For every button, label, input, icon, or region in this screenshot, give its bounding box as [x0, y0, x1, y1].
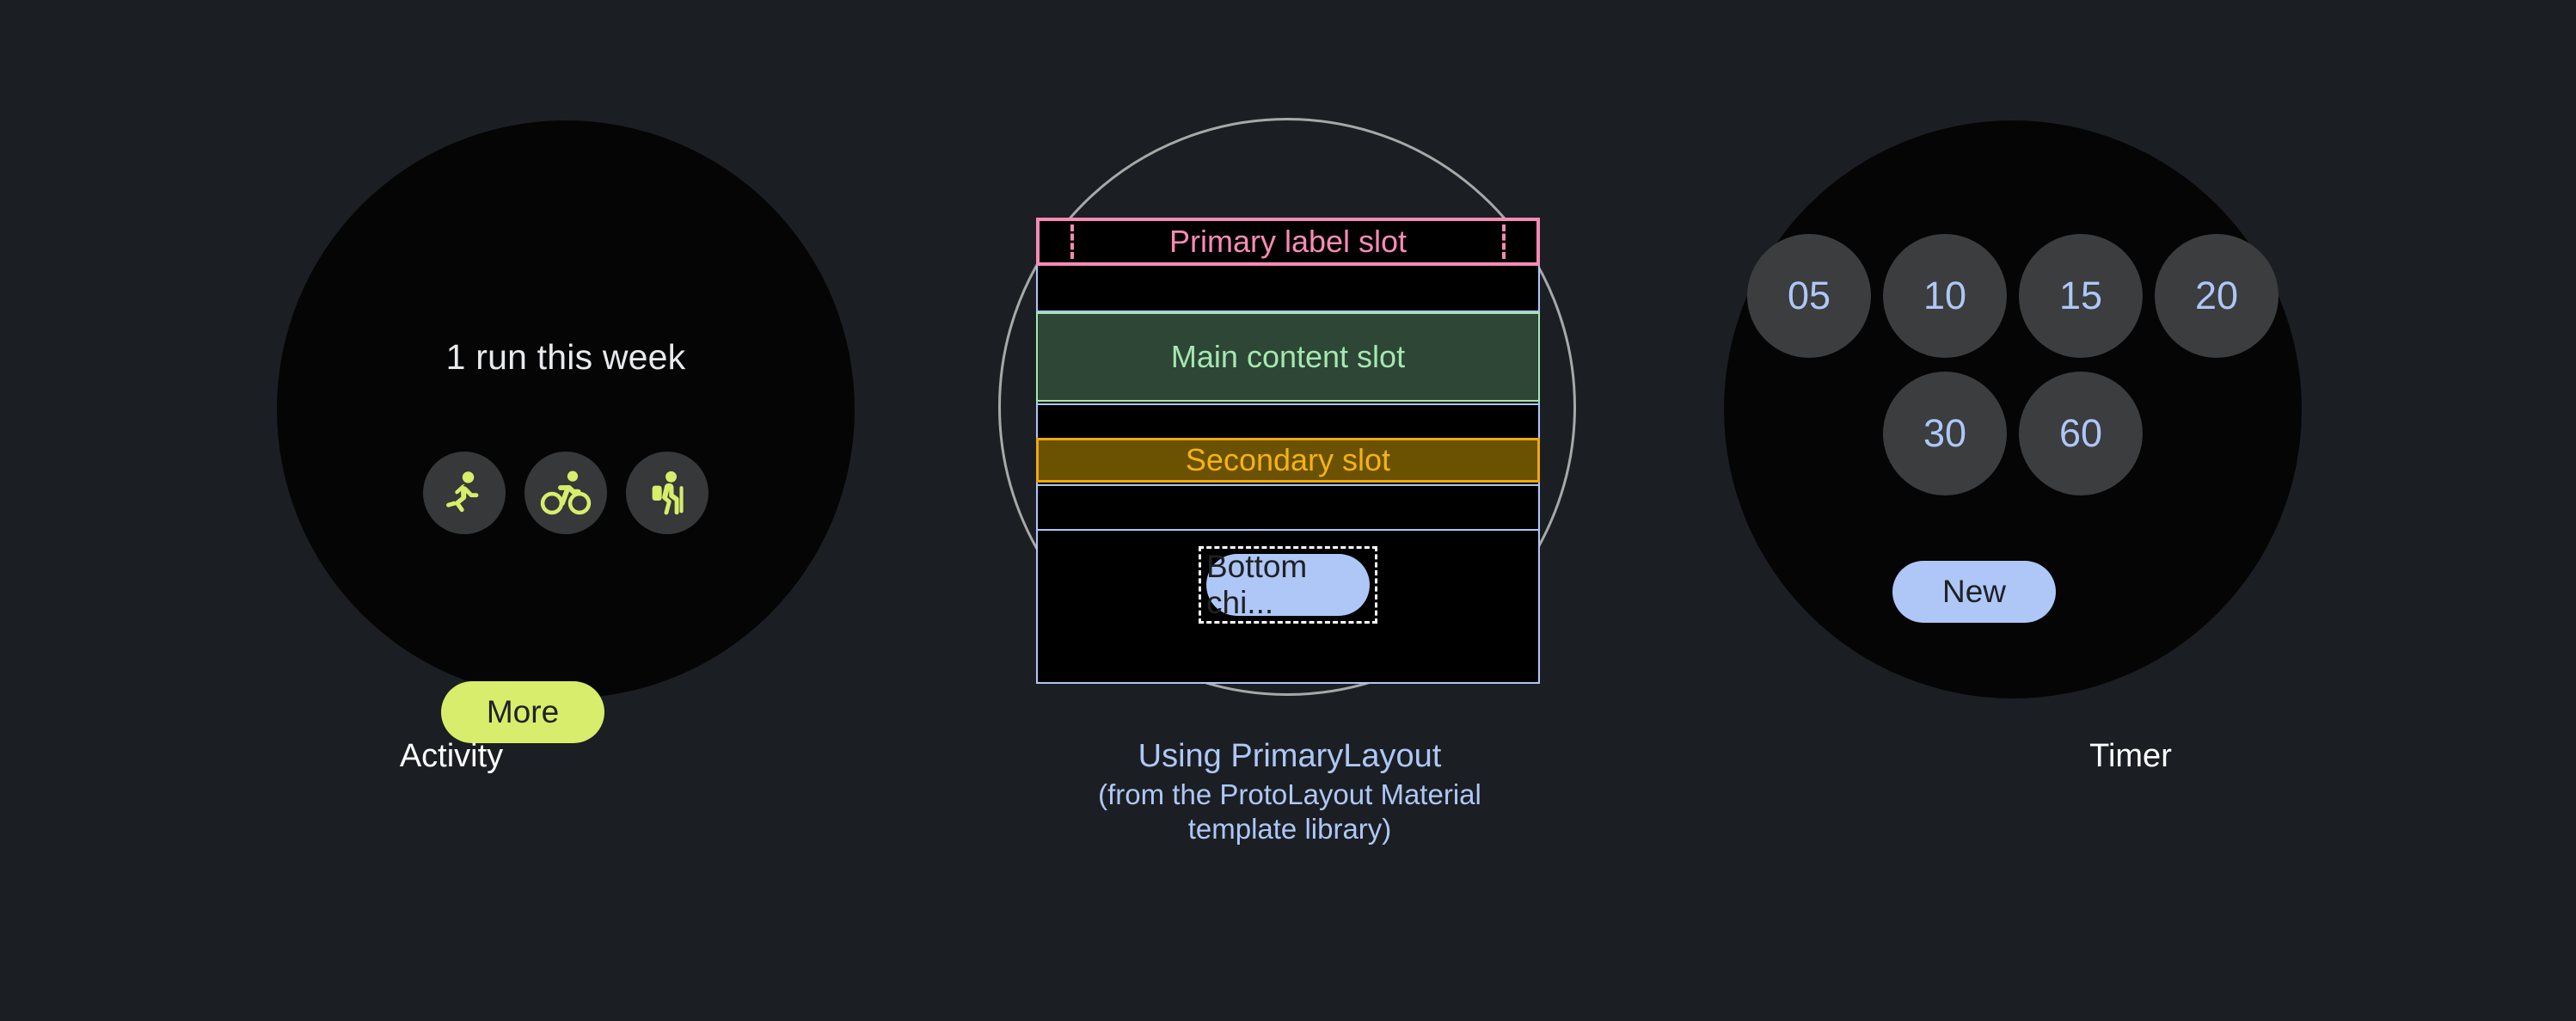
primary-layout-caption-line3: template library) [860, 812, 1720, 846]
timer-duration-button[interactable]: 10 [1883, 234, 2007, 358]
secondary-slot: Secondary slot [1036, 438, 1540, 483]
running-icon [438, 466, 491, 520]
layout-divider [1036, 403, 1540, 405]
activity-headline: 1 run this week [277, 337, 855, 378]
primary-layout-caption: Using PrimaryLayout (from the ProtoLayou… [860, 735, 1720, 846]
layout-divider [1036, 484, 1540, 486]
primary-layout-boundary: Primary label slot Main content slot Sec… [1036, 218, 1540, 684]
timer-new-button[interactable]: New [1892, 561, 2056, 623]
primary-layout-panel: Primary label slot Main content slot Sec… [860, 0, 1720, 1021]
timer-duration-button[interactable]: 60 [2019, 372, 2143, 495]
primary-label-slot: Primary label slot [1036, 218, 1540, 266]
layout-divider [1036, 529, 1540, 531]
activity-icon-row [277, 452, 855, 534]
activity-caption: Activity [0, 735, 903, 778]
timer-duration-grid: 05 10 15 20 30 60 [1724, 234, 2302, 495]
primary-label-slot-text: Primary label slot [1169, 224, 1407, 260]
primary-layout-caption-line1: Using PrimaryLayout [860, 735, 1720, 778]
activity-chip-hiking[interactable] [626, 452, 708, 534]
main-content-slot-text: Main content slot [1171, 339, 1405, 375]
main-content-slot: Main content slot [1036, 312, 1540, 402]
hiking-icon [641, 466, 694, 520]
activity-more-button[interactable]: More [441, 681, 604, 743]
timer-panel: 05 10 15 20 30 60 New Timer [1685, 0, 2576, 1021]
activity-chip-cycling[interactable] [524, 452, 607, 534]
cycling-icon [538, 465, 593, 520]
timer-duration-button[interactable]: 15 [2019, 234, 2143, 358]
secondary-slot-text: Secondary slot [1186, 442, 1390, 478]
primary-layout-caption-line2: (from the ProtoLayout Material [860, 778, 1720, 812]
primary-label-margin-guide-left [1070, 224, 1074, 259]
timer-duration-button[interactable]: 20 [2155, 234, 2279, 358]
activity-panel: 1 run this week [0, 0, 903, 1021]
bottom-chip-slot-guide: Bottom chi... [1199, 546, 1377, 624]
primary-label-margin-guide-right [1502, 224, 1506, 259]
screenshot-root: 1 run this week [0, 0, 2576, 1021]
activity-chip-running[interactable] [423, 452, 506, 534]
timer-duration-button[interactable]: 05 [1747, 234, 1871, 358]
timer-duration-button[interactable]: 30 [1883, 372, 2007, 495]
bottom-chip-button[interactable]: Bottom chi... [1206, 554, 1370, 616]
activity-watch-face: 1 run this week [277, 120, 855, 698]
timer-caption: Timer [1685, 735, 2576, 778]
